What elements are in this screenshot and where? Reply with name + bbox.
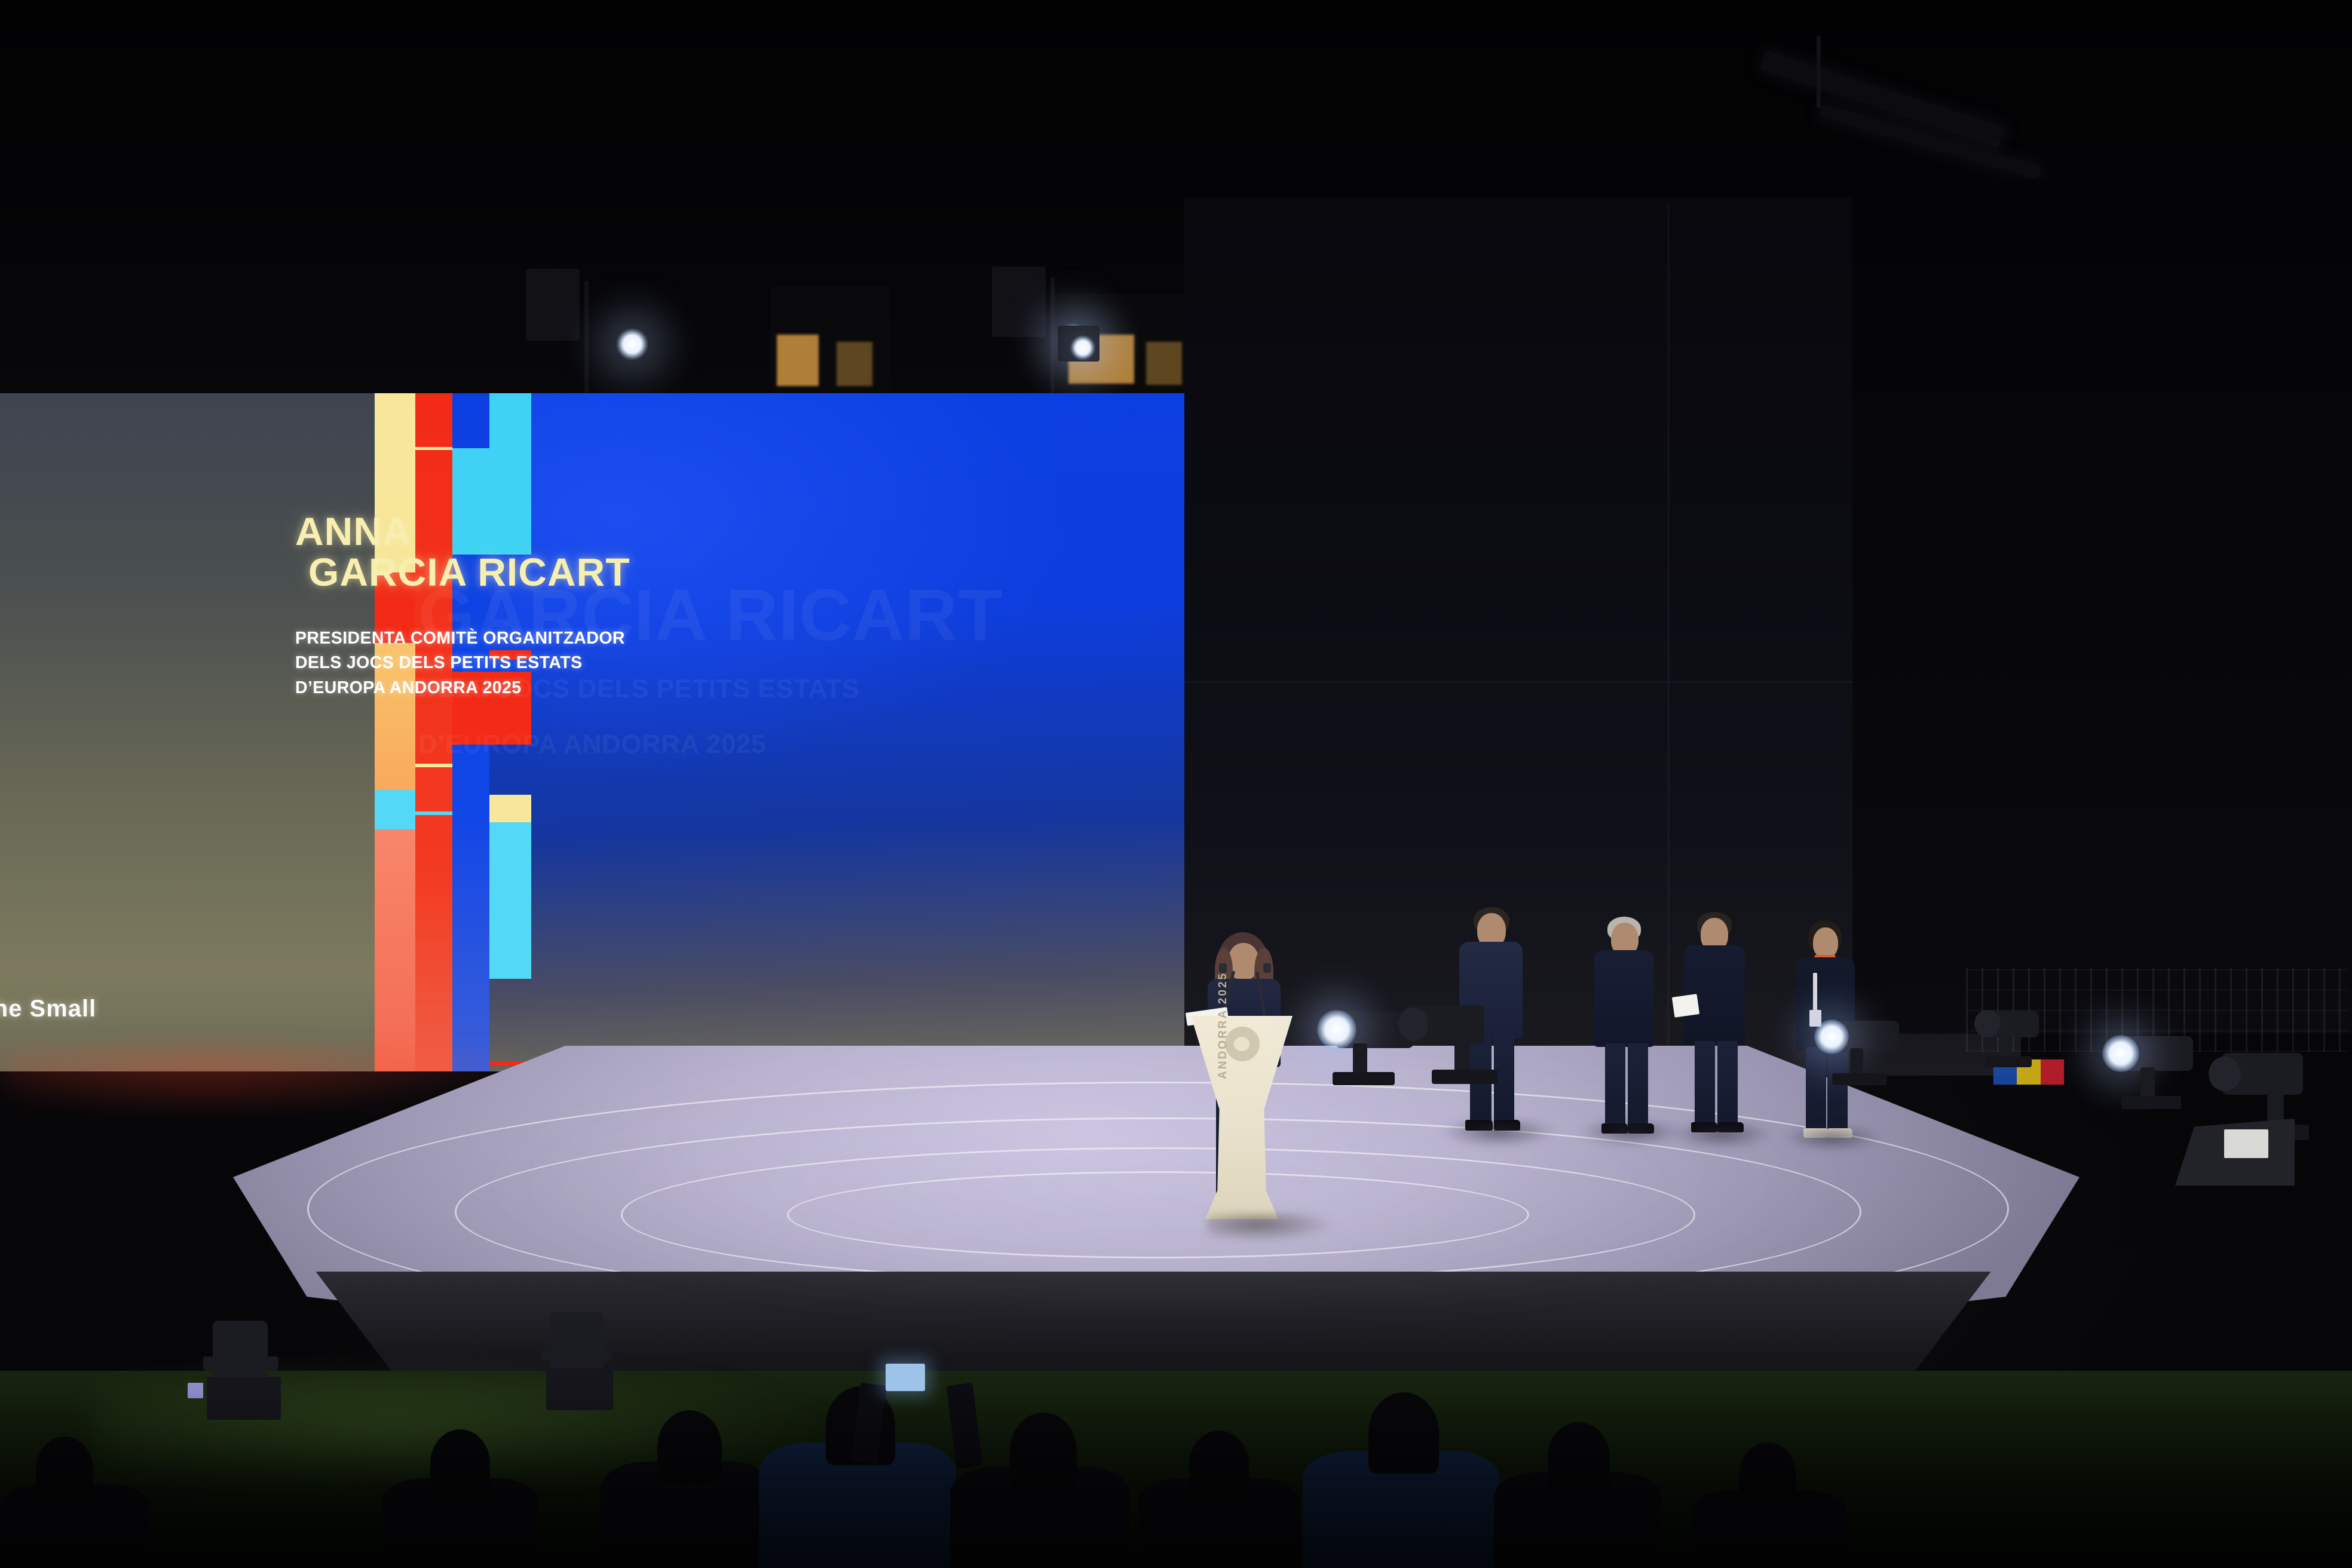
stage-backdrop-right — [1852, 179, 2352, 1034]
moving-head-light — [2097, 1022, 2199, 1117]
moving-head-light — [1811, 1009, 1900, 1092]
cb-yellow-small — [489, 795, 531, 822]
cb-red-tall — [415, 393, 452, 1071]
mover-yoke — [541, 1348, 612, 1361]
ceremony-photo: GARCIA RICART DELS JOCS DELS PETITS ESTA… — [0, 0, 2352, 1568]
mover-base — [2121, 1096, 2181, 1109]
stage-floor-ring — [787, 1171, 1529, 1258]
mover-yoke — [2140, 1067, 2155, 1098]
moving-head-light — [1392, 992, 1506, 1088]
cb-hairline-cyan — [415, 811, 452, 815]
dignitary-shadow — [1580, 1122, 1682, 1146]
games-emblem-icon — [1225, 1027, 1260, 1061]
dignitary-2 — [1587, 917, 1665, 1135]
cb-cyan — [375, 790, 415, 829]
official-head — [1813, 927, 1838, 958]
mover-lens — [1317, 1010, 1356, 1049]
dignitary-shadow — [1671, 1125, 1771, 1149]
building-window — [777, 335, 819, 386]
cb-hairline-yellow — [415, 764, 452, 767]
mover-lens — [2102, 1035, 2139, 1072]
dignitary-leg — [1717, 1041, 1738, 1126]
subtitle-line-2: DELS JOCS DELS PETITS ESTATS — [295, 651, 1090, 675]
stage-light-glow — [1070, 335, 1096, 361]
podium-label: ANDORRA 2025 — [1217, 966, 1230, 1079]
dignitary-leg — [1628, 1043, 1648, 1127]
speaker-subtitle-block: PRESIDENTA COMITÈ ORGANITZADOR DELS JOCS… — [295, 626, 1090, 700]
mover-base — [1832, 1073, 1887, 1085]
mover-yoke — [203, 1356, 278, 1371]
truss-pole — [1817, 36, 1821, 108]
speaker-name-line-1: ANNA — [295, 512, 1090, 552]
podium-shadow — [1207, 1213, 1333, 1242]
dignitary-leg — [1695, 1041, 1715, 1126]
stage-light-glow — [615, 327, 649, 361]
dignitary-speech-card — [1672, 994, 1699, 1018]
mover-lens — [2209, 1056, 2241, 1091]
subtitle-line-1: PRESIDENTA COMITÈ ORGANITZADOR — [295, 626, 1090, 651]
subtitle-line-3: D’EUROPA ANDORRA 2025 — [295, 676, 1090, 700]
podium-microphone-capsule — [1263, 963, 1271, 973]
mover-lens — [1398, 1007, 1428, 1041]
dignitary-leg — [1605, 1043, 1625, 1127]
projection-screen: GARCIA RICART DELS JOCS DELS PETITS ESTA… — [0, 393, 1184, 1071]
truss-light-head — [526, 269, 580, 341]
building-window — [1146, 342, 1182, 385]
cb-salmon — [375, 829, 415, 1071]
building-window — [837, 342, 872, 386]
cb-hairline-yellow — [415, 447, 452, 450]
mover-base — [1985, 1056, 2032, 1067]
mover-base — [1432, 1070, 1497, 1084]
dignitary-jacket — [1594, 950, 1654, 1047]
flag-stripe-red — [2041, 1059, 2064, 1085]
speaker-name-line-2: GARCIA RICART — [308, 552, 1090, 593]
colorblock-graphic — [375, 393, 548, 1071]
backdrop-seam — [1667, 203, 1670, 1052]
cb-cyan-lower — [489, 822, 531, 979]
secondary-screen-partial-text: f the Small — [0, 996, 96, 1022]
official-lanyard — [1813, 973, 1817, 1011]
moving-head-light — [1972, 1002, 2044, 1079]
screen-title-block: ANNA GARCIA RICART PRESIDENTA COMITÈ ORG… — [295, 512, 1090, 700]
official-shadow — [1784, 1128, 1880, 1151]
mover-yoke — [1850, 1048, 1863, 1076]
mover-yoke — [1999, 1035, 2011, 1059]
mover-lens — [1814, 1019, 1849, 1054]
monitor-grill — [2224, 1129, 2268, 1158]
mover-yoke — [1454, 1037, 1470, 1072]
mover-lens — [1974, 1010, 2001, 1037]
audience-darkening-veil — [0, 1389, 2352, 1568]
mover-yoke — [1353, 1043, 1367, 1076]
mover-base — [1333, 1072, 1395, 1085]
audience-phone-screen — [886, 1364, 925, 1391]
dignitary-3 — [1677, 912, 1756, 1134]
dignitary-shadow — [1441, 1121, 1555, 1147]
truss-light-head — [992, 267, 1046, 337]
